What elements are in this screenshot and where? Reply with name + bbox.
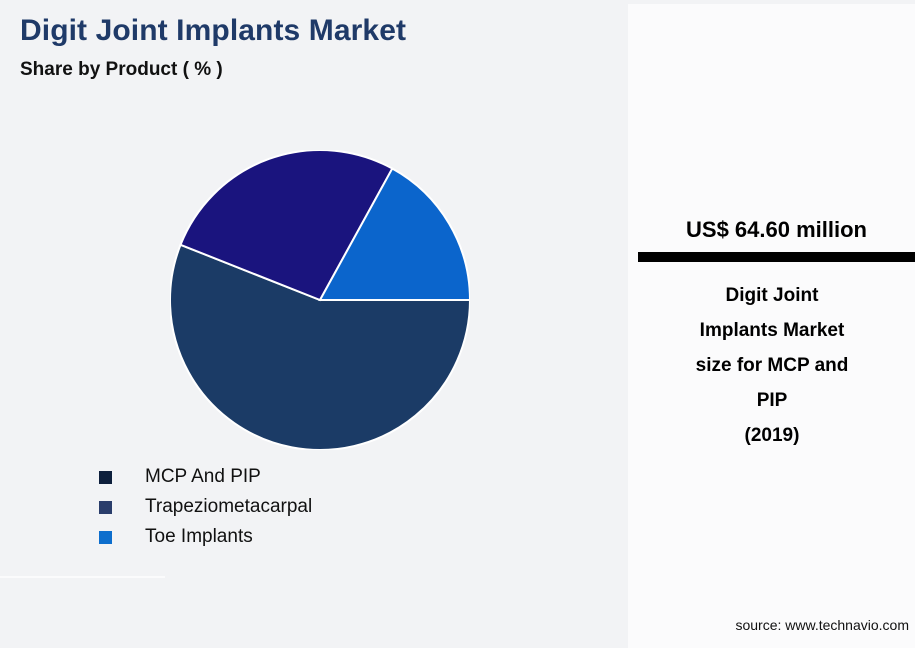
chart-legend: MCP And PIP Trapeziometacarpal Toe Impla…	[99, 462, 599, 552]
kpi-caption: Digit JointImplants Marketsize for MCP a…	[662, 278, 882, 453]
pie-chart-svg	[170, 150, 470, 450]
kpi-caption-line: (2019)	[662, 418, 882, 453]
chart-canvas: Digit Joint Implants Market Share by Pro…	[0, 0, 915, 648]
bottom-divider	[0, 576, 165, 578]
legend-item-mcp-and-pip[interactable]: MCP And PIP	[99, 462, 599, 492]
legend-swatch-icon	[99, 471, 112, 484]
legend-swatch-icon	[99, 501, 112, 514]
legend-item-label: Trapeziometacarpal	[145, 496, 312, 518]
pie-chart	[170, 150, 470, 450]
chart-subtitle: Share by Product ( % )	[20, 59, 223, 81]
kpi-value: US$ 64.60 million	[638, 217, 915, 243]
source-note: source: www.technavio.com	[628, 617, 909, 633]
legend-item-trapeziometacarpal[interactable]: Trapeziometacarpal	[99, 492, 599, 522]
kpi-panel: US$ 64.60 million Digit JointImplants Ma…	[628, 4, 915, 648]
kpi-caption-line: Digit Joint	[662, 278, 882, 313]
kpi-caption-line: size for MCP and	[662, 348, 882, 383]
chart-left-panel: Digit Joint Implants Market Share by Pro…	[0, 0, 628, 648]
legend-swatch-icon	[99, 531, 112, 544]
legend-item-toe-implants[interactable]: Toe Implants	[99, 522, 599, 552]
kpi-caption-line: Implants Market	[662, 313, 882, 348]
kpi-caption-line: PIP	[662, 383, 882, 418]
legend-item-label: MCP And PIP	[145, 466, 261, 488]
legend-item-label: Toe Implants	[145, 526, 253, 548]
page-title: Digit Joint Implants Market	[20, 14, 406, 48]
kpi-divider	[638, 252, 915, 262]
